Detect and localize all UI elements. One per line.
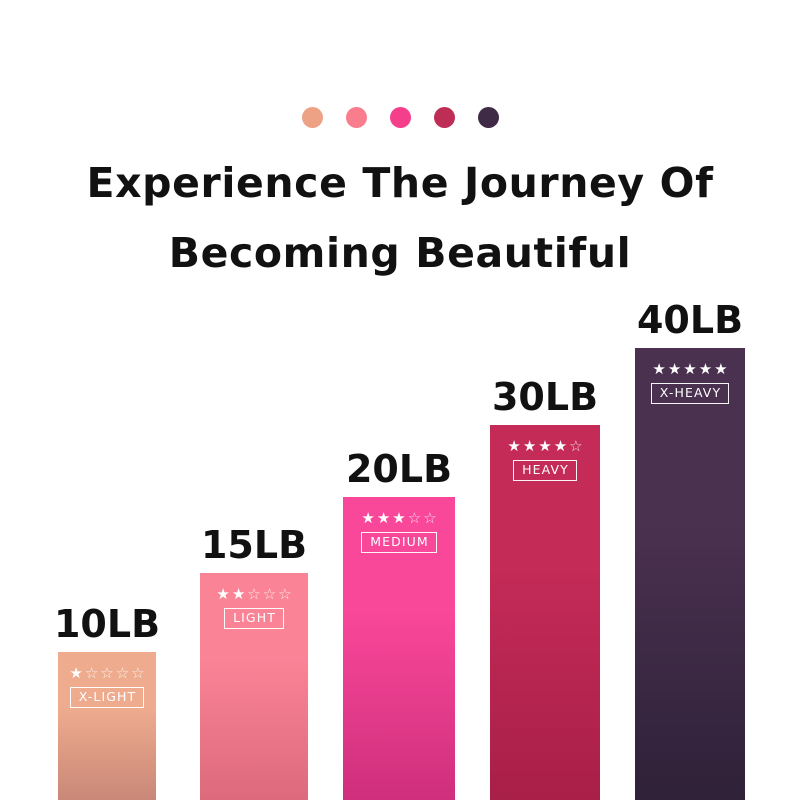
star-filled-icon: ★ (683, 362, 696, 377)
bar-x-light-column: ★☆☆☆☆X-LIGHT (58, 652, 156, 800)
bar-x-heavy-level-label: X-HEAVY (651, 383, 729, 404)
star-empty-icon: ☆ (116, 666, 129, 681)
star-filled-icon: ★ (668, 362, 681, 377)
star-filled-icon: ★ (652, 362, 665, 377)
bar-light-level-label: LIGHT (224, 608, 284, 629)
bar-heavy-fill (490, 425, 600, 800)
bar-x-heavy-value-label: 40LB (637, 298, 743, 342)
star-filled-icon: ★ (699, 362, 712, 377)
star-filled-icon: ★ (361, 511, 374, 526)
bar-light-badge: ★★☆☆☆LIGHT (200, 587, 308, 629)
bar-medium-level-label: MEDIUM (361, 532, 437, 553)
star-empty-icon: ☆ (263, 587, 276, 602)
bar-medium-badge: ★★★☆☆MEDIUM (343, 511, 455, 553)
bar-heavy-star-rating: ★★★★☆ (507, 439, 582, 454)
star-empty-icon: ☆ (85, 666, 98, 681)
star-filled-icon: ★ (232, 587, 245, 602)
star-filled-icon: ★ (69, 666, 82, 681)
bar-medium-column: ★★★☆☆MEDIUM (343, 497, 455, 800)
bar-x-heavy: 40LB★★★★★X-HEAVY (635, 348, 745, 800)
bar-x-light-level-label: X-LIGHT (70, 687, 145, 708)
star-empty-icon: ☆ (247, 587, 260, 602)
resistance-bar-chart: 10LB★☆☆☆☆X-LIGHT15LB★★☆☆☆LIGHT20LB★★★☆☆M… (0, 0, 800, 800)
star-filled-icon: ★ (554, 439, 567, 454)
bar-medium-value-label: 20LB (346, 447, 452, 491)
bar-x-heavy-star-rating: ★★★★★ (652, 362, 727, 377)
star-filled-icon: ★ (507, 439, 520, 454)
star-empty-icon: ☆ (569, 439, 582, 454)
bar-heavy-badge: ★★★★☆HEAVY (490, 439, 600, 481)
bar-x-light-star-rating: ★☆☆☆☆ (69, 666, 144, 681)
star-empty-icon: ☆ (408, 511, 421, 526)
bar-heavy-column: ★★★★☆HEAVY (490, 425, 600, 800)
bar-x-light-badge: ★☆☆☆☆X-LIGHT (58, 666, 156, 708)
star-filled-icon: ★ (538, 439, 551, 454)
star-filled-icon: ★ (377, 511, 390, 526)
star-filled-icon: ★ (523, 439, 536, 454)
star-filled-icon: ★ (216, 587, 229, 602)
bar-light: 15LB★★☆☆☆LIGHT (200, 573, 308, 800)
product-infographic: Experience The Journey Of Becoming Beaut… (0, 0, 800, 800)
bar-light-column: ★★☆☆☆LIGHT (200, 573, 308, 800)
bar-heavy-value-label: 30LB (492, 375, 598, 419)
bar-x-heavy-fill (635, 348, 745, 800)
bar-heavy-level-label: HEAVY (513, 460, 577, 481)
star-filled-icon: ★ (714, 362, 727, 377)
bar-x-heavy-column: ★★★★★X-HEAVY (635, 348, 745, 800)
bar-x-light-value-label: 10LB (54, 602, 160, 646)
bar-x-heavy-badge: ★★★★★X-HEAVY (635, 362, 745, 404)
bar-light-star-rating: ★★☆☆☆ (216, 587, 291, 602)
bar-heavy: 30LB★★★★☆HEAVY (490, 425, 600, 800)
bar-medium: 20LB★★★☆☆MEDIUM (343, 497, 455, 800)
star-empty-icon: ☆ (100, 666, 113, 681)
bar-medium-star-rating: ★★★☆☆ (361, 511, 436, 526)
bar-light-value-label: 15LB (201, 523, 307, 567)
star-empty-icon: ☆ (423, 511, 436, 526)
star-empty-icon: ☆ (278, 587, 291, 602)
star-empty-icon: ☆ (131, 666, 144, 681)
star-filled-icon: ★ (392, 511, 405, 526)
bar-x-light: 10LB★☆☆☆☆X-LIGHT (58, 652, 156, 800)
